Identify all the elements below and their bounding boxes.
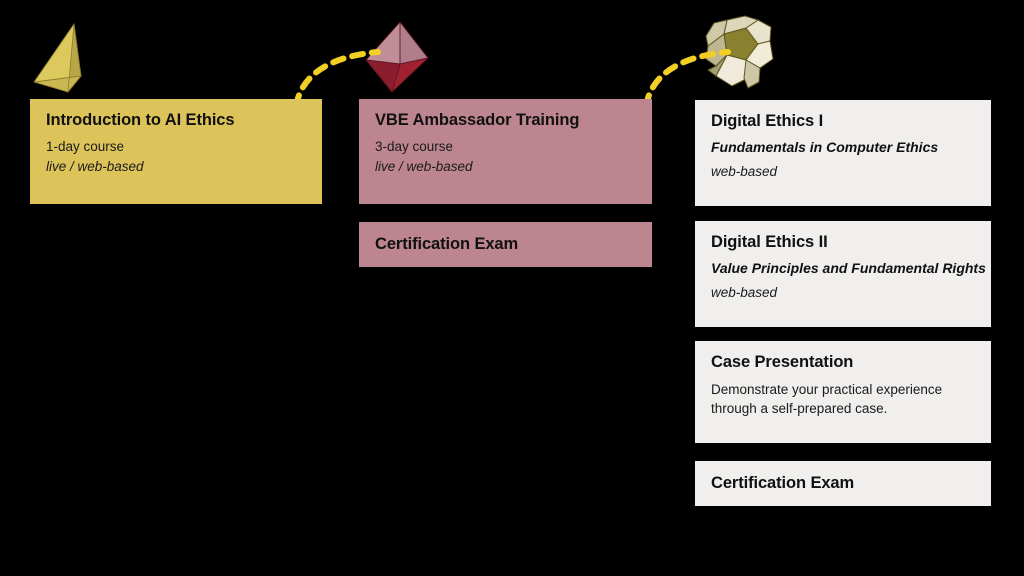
diagram-canvas: Introduction to AI Ethics 1-day course l… bbox=[0, 0, 1024, 576]
tetrahedron-icon bbox=[26, 14, 108, 98]
card-subtitle: Fundamentals in Computer Ethics bbox=[711, 139, 975, 157]
card-duration: 3-day course bbox=[375, 138, 636, 156]
card-digital-ethics-2[interactable]: Digital Ethics II Value Principles and F… bbox=[695, 221, 991, 327]
card-duration: 1-day course bbox=[46, 138, 306, 156]
card-body: Demonstrate your practical experience th… bbox=[711, 380, 975, 419]
octahedron-icon bbox=[356, 14, 438, 98]
card-format: live / web-based bbox=[375, 158, 636, 176]
card-format: web-based bbox=[711, 163, 975, 181]
card-right-certification-exam[interactable]: Certification Exam bbox=[695, 461, 991, 506]
card-format: web-based bbox=[711, 284, 975, 302]
card-title: VBE Ambassador Training bbox=[375, 111, 636, 131]
card-vbe-certification-exam[interactable]: Certification Exam bbox=[359, 222, 652, 267]
card-title: Introduction to AI Ethics bbox=[46, 111, 306, 131]
card-title: Digital Ethics I bbox=[711, 112, 975, 132]
dodecahedron-icon bbox=[696, 14, 782, 98]
card-digital-ethics-1[interactable]: Digital Ethics I Fundamentals in Compute… bbox=[695, 100, 991, 206]
card-introduction-to-ai-ethics[interactable]: Introduction to AI Ethics 1-day course l… bbox=[30, 99, 322, 204]
card-format: live / web-based bbox=[46, 158, 306, 176]
card-title: Certification Exam bbox=[711, 474, 975, 494]
card-vbe-ambassador-training[interactable]: VBE Ambassador Training 3-day course liv… bbox=[359, 99, 652, 204]
card-title: Digital Ethics II bbox=[711, 233, 975, 253]
card-subtitle: Value Principles and Fundamental Rights bbox=[711, 260, 975, 278]
card-title: Certification Exam bbox=[375, 235, 636, 255]
card-title: Case Presentation bbox=[711, 353, 975, 373]
card-case-presentation[interactable]: Case Presentation Demonstrate your pract… bbox=[695, 341, 991, 443]
